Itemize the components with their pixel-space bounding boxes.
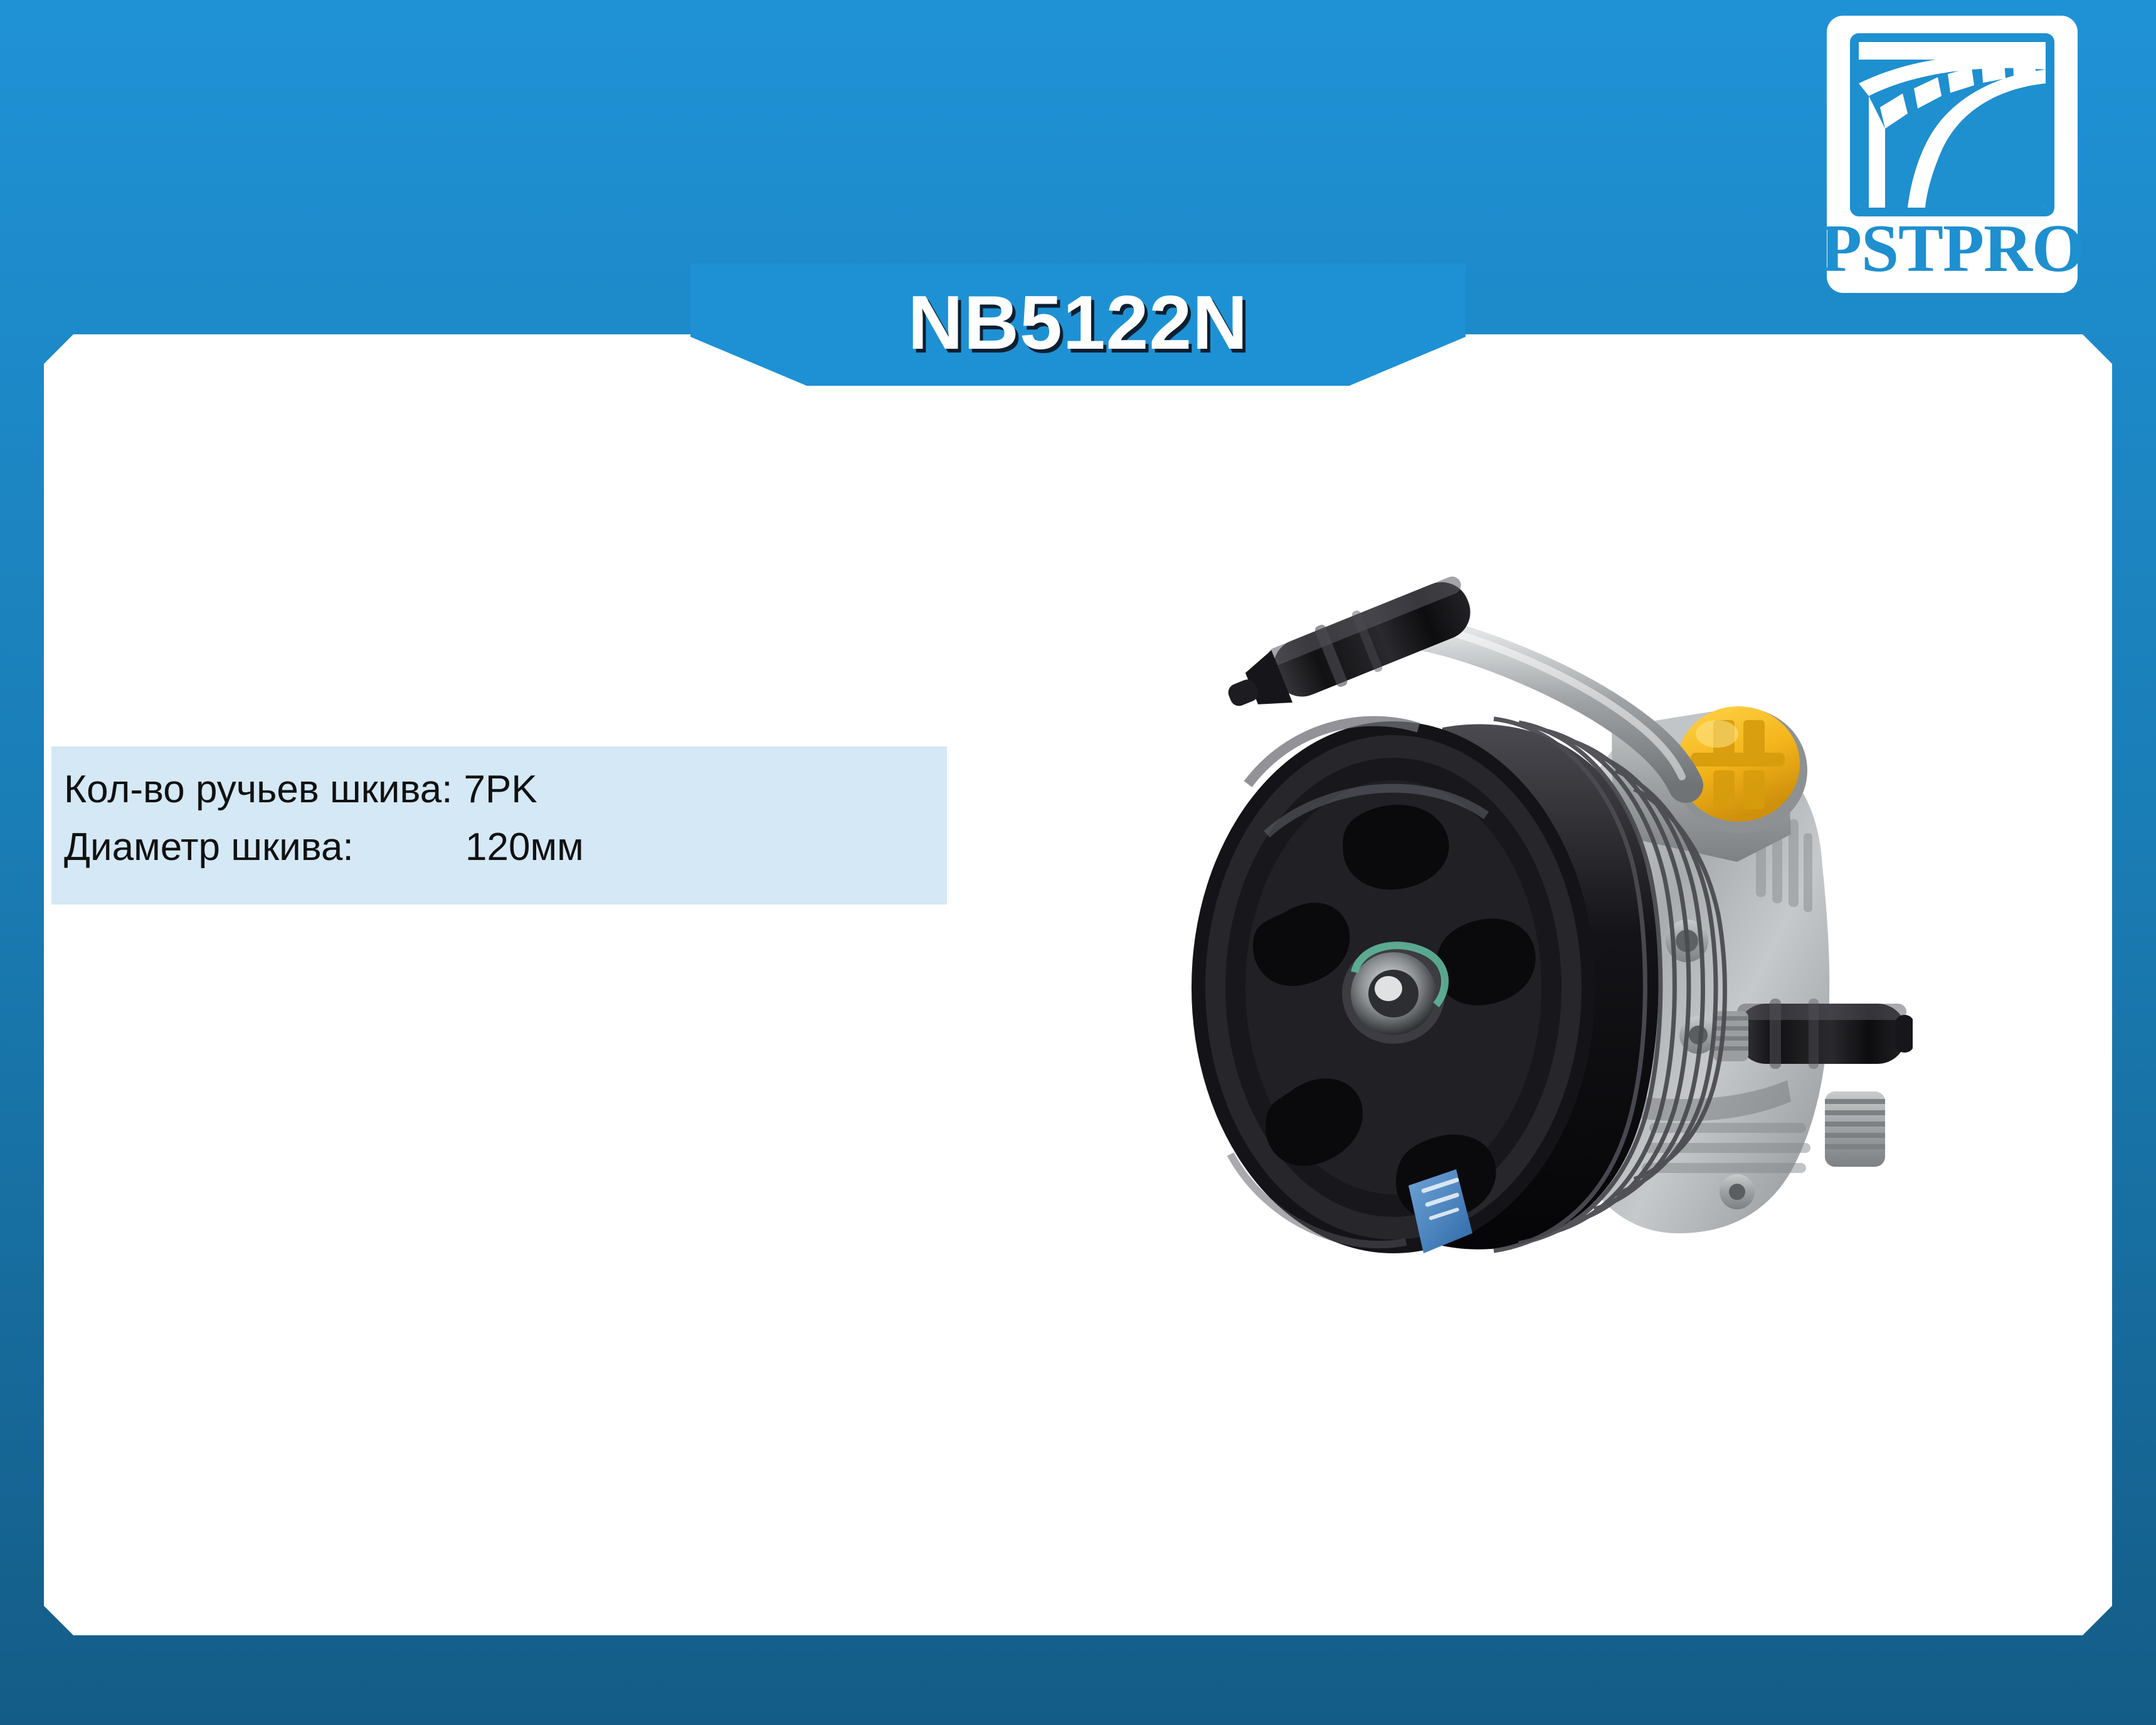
brand-logo-card: PSTPRO <box>1827 16 2078 293</box>
spec-value: 120мм <box>465 828 584 867</box>
specifications-box: Кол-во ручьев шкива: 7PK Диаметр шкива: … <box>51 746 947 905</box>
product-card-page: PSTPRO NB5122N Кол-во ручьев шкива: 7PK … <box>0 0 2156 1725</box>
part-number-title: NB5122N <box>908 284 1249 361</box>
spec-row: Диаметр шкива: 120мм <box>64 828 947 886</box>
spec-value: 7PK <box>464 770 537 809</box>
spec-label: Диаметр шкива: <box>64 828 465 867</box>
pump-illustration <box>1173 539 1913 1311</box>
spec-row: Кол-во ручьев шкива: 7PK <box>64 770 947 828</box>
power-steering-pump-photo <box>1173 539 1913 1311</box>
road-bridge-icon <box>1847 31 2057 219</box>
part-number-banner: NB5122N <box>690 263 1466 386</box>
brand-wordmark: PSTPRO <box>1820 215 2084 283</box>
spec-label: Кол-во ручьев шкива: <box>64 770 453 809</box>
pulley <box>1192 719 1725 1253</box>
